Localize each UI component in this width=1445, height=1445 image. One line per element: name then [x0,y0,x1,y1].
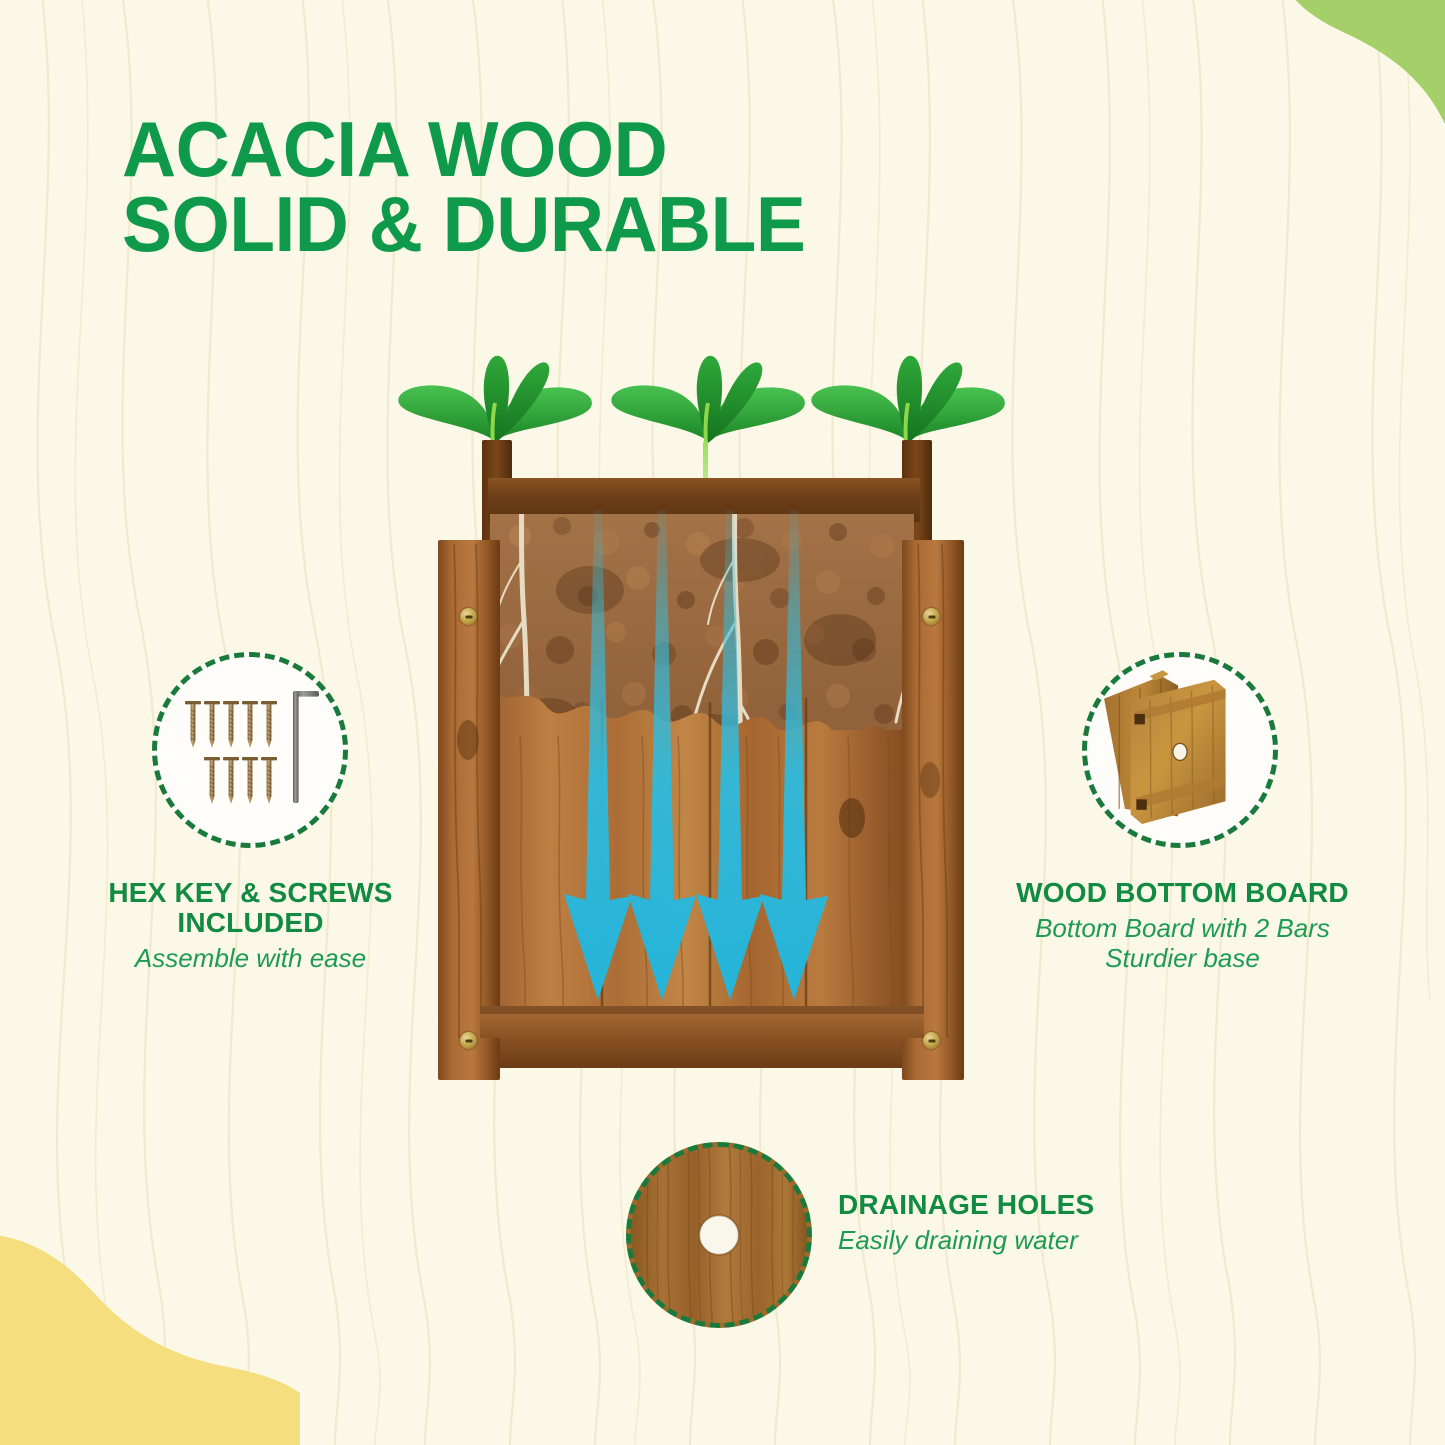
feature-text-drainage-holes: DRAINAGE HOLES Easily draining water [838,1190,1138,1256]
screw-fastener [460,1032,477,1049]
planter-box [410,440,995,1080]
product-illustration [390,345,1015,1080]
infographic-page: ACACIA WOOD SOLID & DURABLE [0,0,1445,1445]
yellow-blob [0,1215,300,1445]
feature-badge-wood-bottom-board [1082,652,1278,848]
feature-text-wood-bottom-board: WOOD BOTTOM BOARD Bottom Board with 2 Ba… [1010,878,1355,974]
feature-subtitle: Assemble with ease [78,944,423,974]
screw-fastener [923,1032,940,1049]
water-drainage-arrows [490,500,920,1070]
green-blob [1155,0,1445,200]
feature-badge-drainage-holes [626,1142,812,1328]
wood-board-icon [1087,652,1273,848]
screw-fastener [460,608,477,625]
feature-subtitle: Easily draining water [838,1226,1138,1256]
screws-and-hex-key-icon [175,685,325,815]
feature-title: WOOD BOTTOM BOARD [1010,878,1355,908]
feature-title: DRAINAGE HOLES [838,1190,1138,1220]
feature-title: HEX KEY & SCREWS INCLUDED [78,878,423,938]
feature-badge-hex-key-screws [152,652,348,848]
feature-subtitle: Bottom Board with 2 Bars Sturdier base [1010,914,1355,974]
page-title: ACACIA WOOD SOLID & DURABLE [122,112,805,262]
feature-text-hex-key-screws: HEX KEY & SCREWS INCLUDED Assemble with … [78,878,423,974]
drainage-hole-icon [631,1142,807,1328]
screw-fastener [923,608,940,625]
